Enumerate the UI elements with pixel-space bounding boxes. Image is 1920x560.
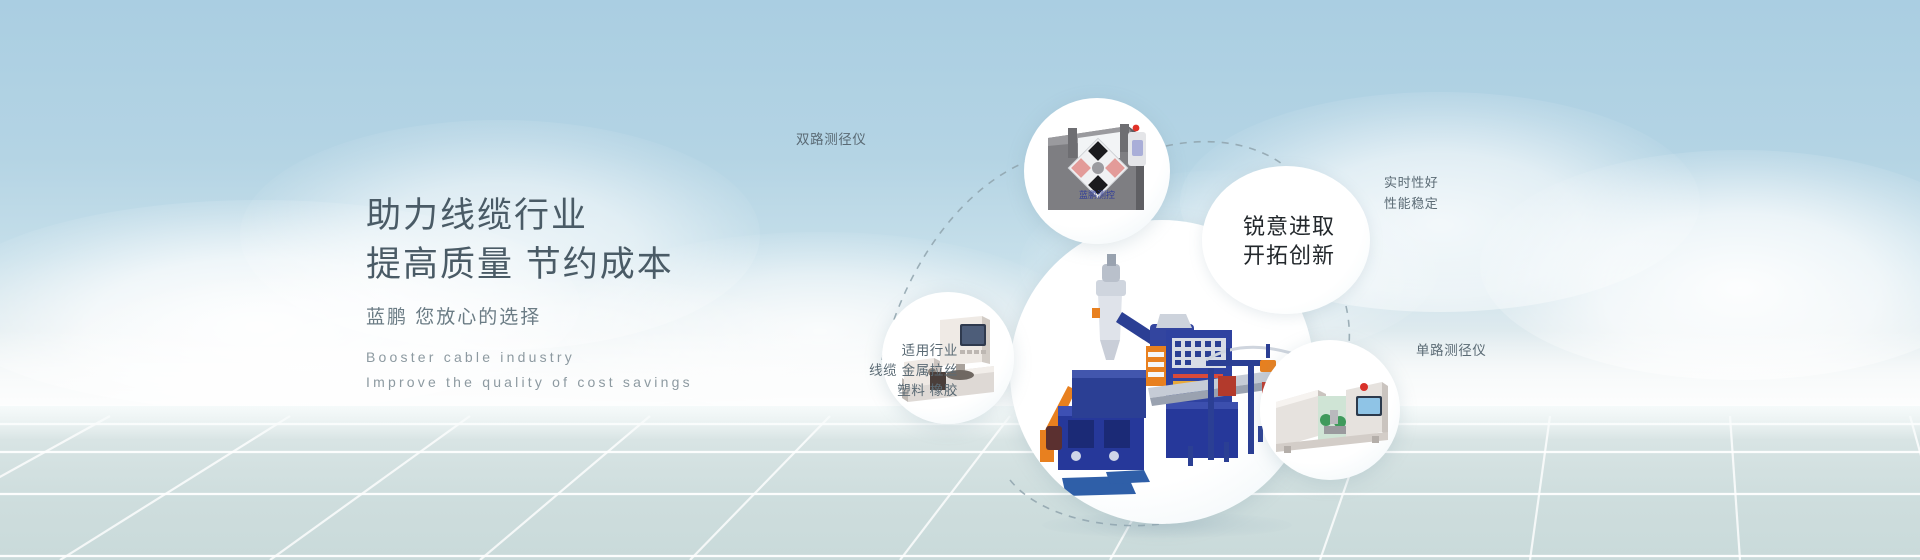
bubble-single-channel-diameter-gauge[interactable] bbox=[1260, 340, 1400, 480]
slogan-line-2: 开拓创新 bbox=[1234, 241, 1344, 270]
slogan-text: 锐意进取 开拓创新 bbox=[1234, 212, 1344, 270]
headline-text-block: 助力线缆行业 提高质量 节约成本 蓝鹏 您放心的选择 Booster cable… bbox=[366, 194, 786, 395]
label-applicable-industries: 适用行业 线缆 金属拉丝 塑料 橡胶 bbox=[830, 341, 958, 401]
single-gauge-icon bbox=[1260, 340, 1400, 480]
label-single-channel-diameter-gauge: 单路测径仪 bbox=[1416, 341, 1487, 360]
english-tagline-2: Improve the quality of cost savings bbox=[366, 370, 786, 395]
product-cluster: 蓝鹏测控 bbox=[860, 60, 1920, 560]
device-brand-text: 蓝鹏测控 bbox=[1079, 189, 1115, 200]
headline-line-1: 助力线缆行业 bbox=[366, 194, 786, 238]
dual-gauge-icon: 蓝鹏测控 bbox=[1024, 98, 1170, 244]
subtitle: 蓝鹏 您放心的选择 bbox=[366, 305, 786, 331]
performance-line-1: 实时性好 bbox=[1384, 172, 1438, 193]
performance-line-2: 性能稳定 bbox=[1384, 193, 1438, 214]
label-performance: 实时性好 性能稳定 bbox=[1384, 172, 1438, 214]
industry-line-2: 线缆 金属拉丝 bbox=[830, 361, 958, 381]
english-tagline-1: Booster cable industry bbox=[366, 345, 786, 370]
industry-title: 适用行业 bbox=[830, 341, 958, 361]
industry-line-3: 塑料 橡胶 bbox=[830, 381, 958, 401]
promo-banner: 助力线缆行业 提高质量 节约成本 蓝鹏 您放心的选择 Booster cable… bbox=[0, 0, 1920, 560]
slogan-line-1: 锐意进取 bbox=[1234, 212, 1344, 241]
bubble-dual-channel-diameter-gauge[interactable]: 蓝鹏测控 bbox=[1024, 98, 1170, 244]
dashed-connector-lines-icon bbox=[860, 60, 1920, 560]
label-dual-channel-diameter-gauge: 双路测径仪 bbox=[796, 130, 867, 149]
headline-line-2: 提高质量 节约成本 bbox=[366, 243, 786, 287]
